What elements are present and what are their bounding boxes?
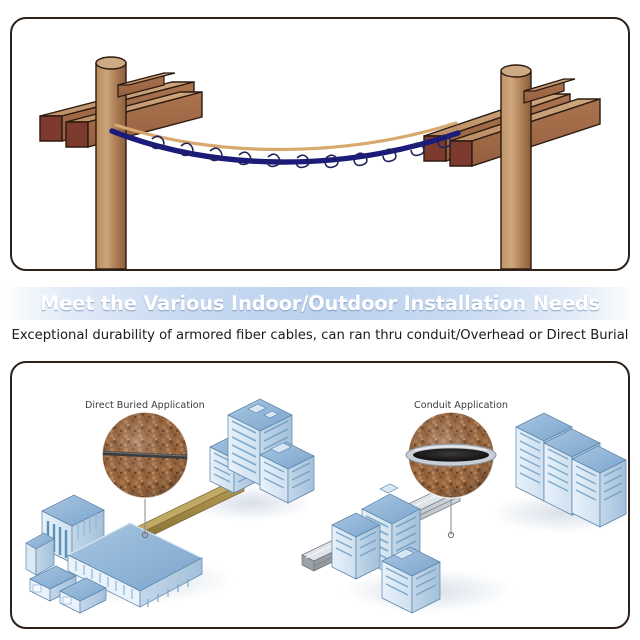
scene-direct-buried: [26, 399, 314, 613]
banner: Meet the Various Indoor/Outdoor Installa…: [0, 287, 640, 320]
building-left-mid: [332, 513, 380, 579]
right-utility-pole: [424, 65, 600, 269]
buildings-city-right: [210, 399, 314, 503]
overhead-installation-panel: [10, 17, 630, 271]
left-utility-pole: [40, 57, 202, 269]
conduit-pipe-in-soil: [406, 444, 496, 466]
banner-title: Meet the Various Indoor/Outdoor Installa…: [0, 287, 640, 320]
banner-subtitle: Exceptional durability of armored fiber …: [0, 328, 640, 343]
scene-conduit: [302, 412, 628, 613]
label-conduit: Conduit Application: [414, 400, 508, 411]
building-tower-c: [572, 446, 626, 527]
overhead-illustration: [12, 19, 628, 269]
building-side-wing: [26, 533, 54, 575]
label-direct-buried: Direct Buried Application: [85, 400, 205, 411]
page-root: Meet the Various Indoor/Outdoor Installa…: [0, 0, 640, 640]
